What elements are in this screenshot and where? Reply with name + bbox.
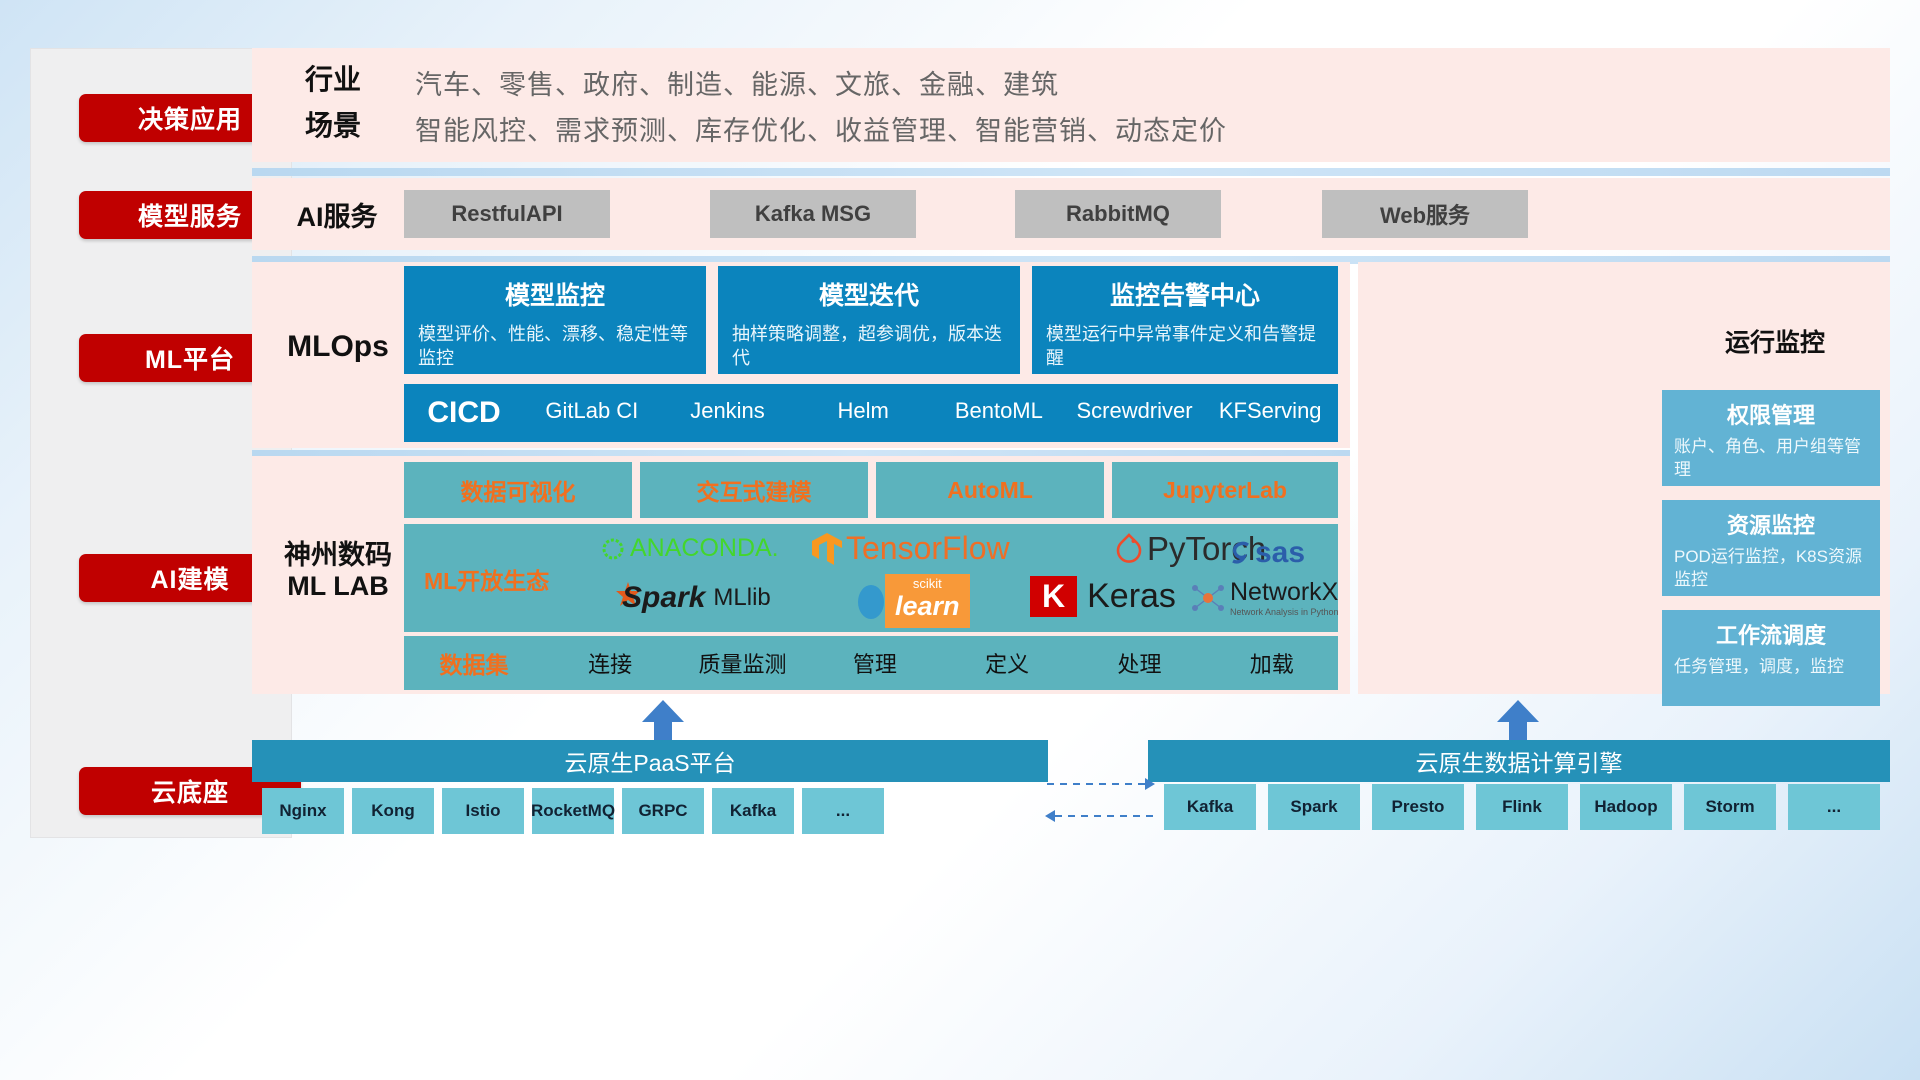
- mlops-card-title: 模型监控: [505, 276, 605, 312]
- data-engine-bar[interactable]: 云原生数据计算引擎: [1148, 740, 1890, 782]
- dataset-item-define[interactable]: 定义: [941, 647, 1073, 679]
- monitoring-card-resource[interactable]: 资源监控 POD运行监控，K8S资源监控: [1662, 500, 1880, 596]
- paas-tag-istio[interactable]: Istio: [442, 788, 524, 834]
- scenario-list: 智能风控、需求预测、库存优化、收益管理、智能营销、动态定价: [415, 109, 1227, 148]
- mllab-tool-jupyterlab[interactable]: JupyterLab: [1112, 462, 1338, 518]
- band-separator-1: [252, 168, 1890, 176]
- cicd-item-screwdriver[interactable]: Screwdriver: [1067, 384, 1203, 423]
- scikit-learn-logo: scikit learn: [855, 574, 970, 628]
- mllab-label: 神州数码 ML LAB: [262, 540, 414, 602]
- arrow-up-engine-icon: [1495, 700, 1541, 744]
- mlops-card-title: 模型迭代: [819, 276, 919, 312]
- spark-mllib-logo: Spark MLlib: [600, 578, 771, 618]
- engine-tag-presto[interactable]: Presto: [1372, 784, 1464, 830]
- mlops-card-desc: 模型评价、性能、漂移、稳定性等监控: [418, 322, 692, 371]
- spark-logo-text: Spark: [622, 581, 705, 615]
- dataset-bar: 数据集 连接 质量监测 管理 定义 处理 加载: [404, 636, 1338, 690]
- paas-tag-kong[interactable]: Kong: [352, 788, 434, 834]
- dataset-item-quality[interactable]: 质量监测: [676, 647, 808, 679]
- mlops-card-desc: 模型运行中异常事件定义和告警提醒: [1046, 322, 1324, 371]
- monitoring-card-desc: 任务管理，调度，监控: [1674, 656, 1868, 679]
- ai-service-item-web[interactable]: Web服务: [1322, 190, 1528, 238]
- engine-tag-hadoop[interactable]: Hadoop: [1580, 784, 1672, 830]
- industry-row-label: 行业: [278, 64, 388, 96]
- engine-tag-storm[interactable]: Storm: [1684, 784, 1776, 830]
- networkx-tagline: Network Analysis in Python: [1230, 607, 1339, 617]
- paas-tag-rocketmq[interactable]: RocketMQ: [532, 788, 614, 834]
- networkx-logo: NetworkX Network Analysis in Python: [1190, 578, 1339, 617]
- cicd-item-kfserving[interactable]: KFServing: [1202, 384, 1338, 423]
- mllab-tool-interactive-modeling[interactable]: 交互式建模: [640, 462, 868, 518]
- paas-platform-bar[interactable]: 云原生PaaS平台: [252, 740, 1048, 782]
- monitoring-card-title: 资源监控: [1674, 508, 1868, 540]
- engine-tag-flink[interactable]: Flink: [1476, 784, 1568, 830]
- tensorflow-logo-text: TensorFlow: [846, 530, 1010, 567]
- arrow-up-paas-icon: [640, 700, 686, 744]
- monitoring-card-permission[interactable]: 权限管理 账户、角色、用户组等管理: [1662, 390, 1880, 486]
- ai-service-item-restfulapi[interactable]: RestfulAPI: [404, 190, 610, 238]
- dataset-item-connect[interactable]: 连接: [544, 647, 676, 679]
- architecture-diagram: 决策应用 模型服务 ML平台 AI建模 云底座 行业 汽车、零售、政府、制造、能…: [0, 0, 1920, 1080]
- dataset-item-process[interactable]: 处理: [1073, 647, 1205, 679]
- ml-ecosystem-label: ML开放生态: [424, 562, 549, 596]
- keras-logo-text: Keras: [1087, 577, 1176, 616]
- mlops-label: MLOps: [268, 330, 408, 365]
- mllib-logo-text: MLlib: [713, 584, 770, 612]
- industry-list: 汽车、零售、政府、制造、能源、文旅、金融、建筑: [415, 63, 1059, 102]
- mlops-card-title: 监控告警中心: [1110, 276, 1260, 312]
- bidirectional-connector: [1045, 770, 1155, 830]
- mlops-card-alert-center[interactable]: 监控告警中心 模型运行中异常事件定义和告警提醒: [1032, 266, 1338, 374]
- cicd-label: CICD: [404, 384, 524, 430]
- cicd-item-helm[interactable]: Helm: [795, 384, 931, 423]
- engine-tag-spark[interactable]: Spark: [1268, 784, 1360, 830]
- ai-service-item-rabbitmq[interactable]: RabbitMQ: [1015, 190, 1221, 238]
- mllab-tool-automl[interactable]: AutoML: [876, 462, 1104, 518]
- paas-tag-kafka[interactable]: Kafka: [712, 788, 794, 834]
- monitoring-card-title: 工作流调度: [1674, 618, 1868, 650]
- dataset-label: 数据集: [404, 646, 544, 680]
- mlops-card-desc: 抽样策略调整，超参调优，版本迭代: [732, 322, 1006, 371]
- cicd-item-jenkins[interactable]: Jenkins: [660, 384, 796, 423]
- paas-tag-grpc[interactable]: GRPC: [622, 788, 704, 834]
- engine-tag-kafka[interactable]: Kafka: [1164, 784, 1256, 830]
- ai-service-item-kafka-msg[interactable]: Kafka MSG: [710, 190, 916, 238]
- mlops-card-model-monitoring[interactable]: 模型监控 模型评价、性能、漂移、稳定性等监控: [404, 266, 706, 374]
- ai-service-label: AI服务: [272, 202, 402, 233]
- paas-tag-nginx[interactable]: Nginx: [262, 788, 344, 834]
- cicd-bar: CICD GitLab CI Jenkins Helm BentoML Scre…: [404, 384, 1338, 442]
- monitoring-card-title: 权限管理: [1674, 398, 1868, 430]
- cicd-item-bentoml[interactable]: BentoML: [931, 384, 1067, 423]
- keras-logo: K Keras: [1030, 576, 1176, 617]
- keras-mark: K: [1030, 576, 1077, 617]
- tensorflow-logo: TensorFlow: [810, 530, 1010, 567]
- mllab-label-line2: ML LAB: [262, 571, 414, 602]
- anaconda-logo-text: ANACONDA.: [630, 534, 779, 563]
- mllab-label-line1: 神州数码: [262, 540, 414, 571]
- monitoring-card-desc: POD运行监控，K8S资源监控: [1674, 546, 1868, 592]
- engine-tag-more[interactable]: ...: [1788, 784, 1880, 830]
- sas-logo: sas: [1225, 536, 1305, 570]
- mllab-tool-data-visualization[interactable]: 数据可视化: [404, 462, 632, 518]
- monitoring-title: 运行监控: [1660, 323, 1890, 359]
- sas-logo-text: sas: [1255, 536, 1305, 570]
- paas-tag-more[interactable]: ...: [802, 788, 884, 834]
- monitoring-card-desc: 账户、角色、用户组等管理: [1674, 436, 1868, 482]
- scikit-text: scikit: [895, 576, 960, 591]
- dataset-item-manage[interactable]: 管理: [809, 647, 941, 679]
- scenario-row-label: 场景: [278, 110, 388, 142]
- dataset-item-load[interactable]: 加载: [1206, 647, 1338, 679]
- learn-text: learn: [895, 591, 960, 622]
- anaconda-logo: ANACONDA.: [600, 534, 779, 563]
- cicd-item-gitlab-ci[interactable]: GitLab CI: [524, 384, 660, 423]
- mlops-card-model-iteration[interactable]: 模型迭代 抽样策略调整，超参调优，版本迭代: [718, 266, 1020, 374]
- networkx-logo-text: NetworkX: [1230, 578, 1339, 607]
- monitoring-card-workflow[interactable]: 工作流调度 任务管理，调度，监控: [1662, 610, 1880, 706]
